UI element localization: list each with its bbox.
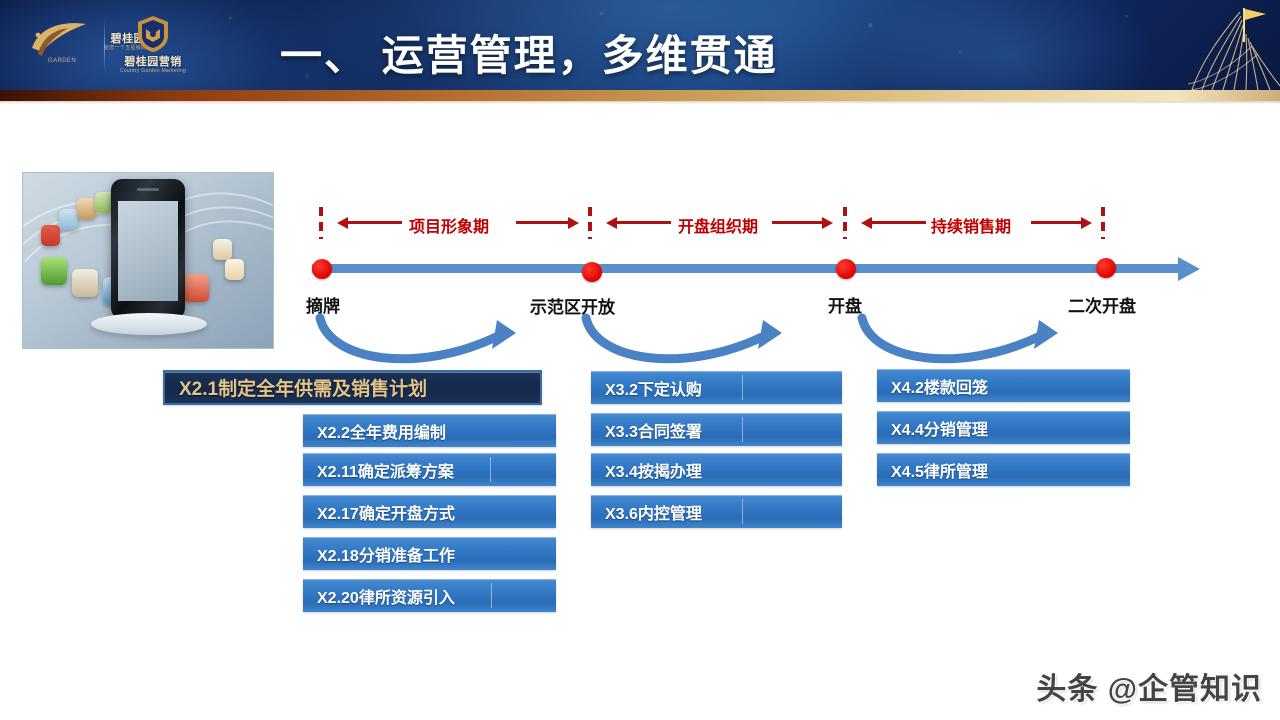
phase-label-1: 开盘组织期 [678, 213, 758, 237]
phone-screen [118, 201, 178, 301]
app-icon [41, 257, 67, 285]
logo-en-label: Country Garden Marketing [120, 68, 186, 75]
watermark: 头条 @企管知识 [1036, 664, 1262, 708]
curved-arrow-3 [862, 318, 1040, 359]
task-bar-separator [742, 417, 743, 442]
task-bar-x2-20[interactable]: X2.20律所资源引入 [303, 579, 556, 612]
curved-arrow-head-3 [1034, 320, 1058, 349]
task-bar-x2-11[interactable]: X2.11确定派筹方案 [303, 453, 556, 486]
country-garden-marketing-logo: 碧桂园营销 Country Garden Marketing [120, 14, 186, 75]
phase-arrow-left-head-icon [861, 217, 872, 229]
task-bar-x2-1[interactable]: X2.1制定全年供需及销售计划 [163, 370, 542, 405]
task-bar-separator [742, 375, 743, 400]
curved-arrow-1 [320, 318, 498, 359]
phase-arrow-left [872, 221, 926, 224]
slide-header: GARDEN 碧桂园 给您一个五星级的家 碧桂园营销 Country Garde… [0, 0, 1280, 90]
task-bar-separator [742, 499, 743, 524]
app-icon [225, 259, 244, 280]
timeline-axis [312, 264, 1182, 273]
task-bar-x2-2[interactable]: X2.2全年费用编制 [303, 414, 556, 447]
timeline-arrowhead-icon [1178, 257, 1200, 281]
phase-arrow-left [617, 221, 671, 224]
task-bar-label: X3.2下定认购 [591, 376, 702, 400]
app-icon [59, 209, 78, 230]
task-bar-label: X2.1制定全年供需及销售计划 [165, 374, 427, 401]
milestone-label-3: 二次开盘 [1068, 292, 1136, 317]
curved-arrow-head-1 [492, 320, 516, 349]
task-bar-x4-4[interactable]: X4.4分销管理 [877, 411, 1130, 444]
country-garden-mark-icon: GARDEN [24, 14, 98, 70]
app-icon [72, 269, 98, 297]
timeline-dot[interactable] [836, 259, 856, 279]
task-bar-separator [491, 583, 492, 608]
svg-text:GARDEN: GARDEN [48, 58, 76, 64]
phase-arrow-left [348, 221, 402, 224]
milestone-label-0: 摘牌 [306, 292, 340, 317]
task-bar-x4-2[interactable]: X4.2楼款回笼 [877, 369, 1130, 402]
task-bar-x2-17[interactable]: X2.17确定开盘方式 [303, 495, 556, 528]
phase-divider-tick [319, 207, 323, 239]
task-bar-label: X3.4按揭办理 [591, 458, 702, 482]
phase-arrow-left-head-icon [606, 217, 617, 229]
app-icon [41, 225, 60, 246]
task-bar-label: X2.20律所资源引入 [303, 584, 455, 608]
phase-arrow-right-head-icon [1081, 217, 1092, 229]
app-icon [183, 274, 209, 302]
task-bar-x3-3[interactable]: X3.3合同签署 [591, 413, 842, 446]
task-bar-x4-5[interactable]: X4.5律所管理 [877, 453, 1130, 486]
marketing-shield-icon [133, 14, 173, 54]
header-gold-accent-bar [0, 90, 1280, 101]
task-bar-label: X4.4分销管理 [877, 416, 988, 440]
smartphone-apps-image [22, 172, 274, 349]
phase-label-0: 项目形象期 [409, 213, 489, 237]
app-icon [77, 198, 96, 219]
phase-arrow-right-head-icon [568, 217, 579, 229]
curved-arrow-2 [586, 318, 764, 359]
timeline-dot[interactable] [312, 259, 332, 279]
task-bar-label: X4.5律所管理 [877, 458, 988, 482]
task-bar-label: X2.11确定派筹方案 [303, 458, 454, 482]
phase-arrow-right [516, 221, 568, 224]
task-bar-label: X3.3合同签署 [591, 418, 702, 442]
task-bar-separator [490, 457, 491, 482]
curved-connectors [0, 0, 1280, 720]
logo-divider [104, 20, 105, 72]
phase-arrow-right [1031, 221, 1081, 224]
task-bar-x3-2[interactable]: X3.2下定认购 [591, 371, 842, 404]
phase-divider-tick [588, 207, 592, 239]
timeline-dot[interactable] [1096, 258, 1116, 278]
task-bar-x2-18[interactable]: X2.18分销准备工作 [303, 537, 556, 570]
task-bar-label: X3.6内控管理 [591, 500, 702, 524]
milestone-label-1: 示范区开放 [530, 293, 615, 318]
task-bar-label: X4.2楼款回笼 [877, 374, 988, 398]
phase-arrow-left-head-icon [337, 217, 348, 229]
phase-label-2: 持续销售期 [931, 213, 1011, 237]
page-title: 一、 运营管理，多维贯通 [280, 22, 840, 83]
phase-arrow-right-head-icon [822, 217, 833, 229]
phone-stand [91, 313, 207, 335]
gold-fan-ornament-icon [1080, 0, 1280, 90]
task-bar-x3-6[interactable]: X3.6内控管理 [591, 495, 842, 528]
milestone-label-2: 开盘 [828, 292, 862, 317]
phone-speaker [137, 188, 159, 191]
smartphone-body [111, 179, 185, 319]
logo-cn-label: 碧桂园营销 [120, 56, 186, 68]
phase-divider-tick [843, 207, 847, 239]
timeline-dot[interactable] [582, 262, 602, 282]
phase-arrow-right [772, 221, 822, 224]
phase-divider-tick [1101, 207, 1105, 239]
header-accent-shadow [0, 101, 1280, 104]
task-bar-label: X2.18分销准备工作 [303, 542, 455, 566]
app-icon [213, 239, 232, 260]
task-bar-label: X2.17确定开盘方式 [303, 500, 455, 524]
task-bar-x3-4[interactable]: X3.4按揭办理 [591, 453, 842, 486]
curved-arrow-head-2 [758, 320, 782, 349]
task-bar-label: X2.2全年费用编制 [303, 419, 446, 443]
